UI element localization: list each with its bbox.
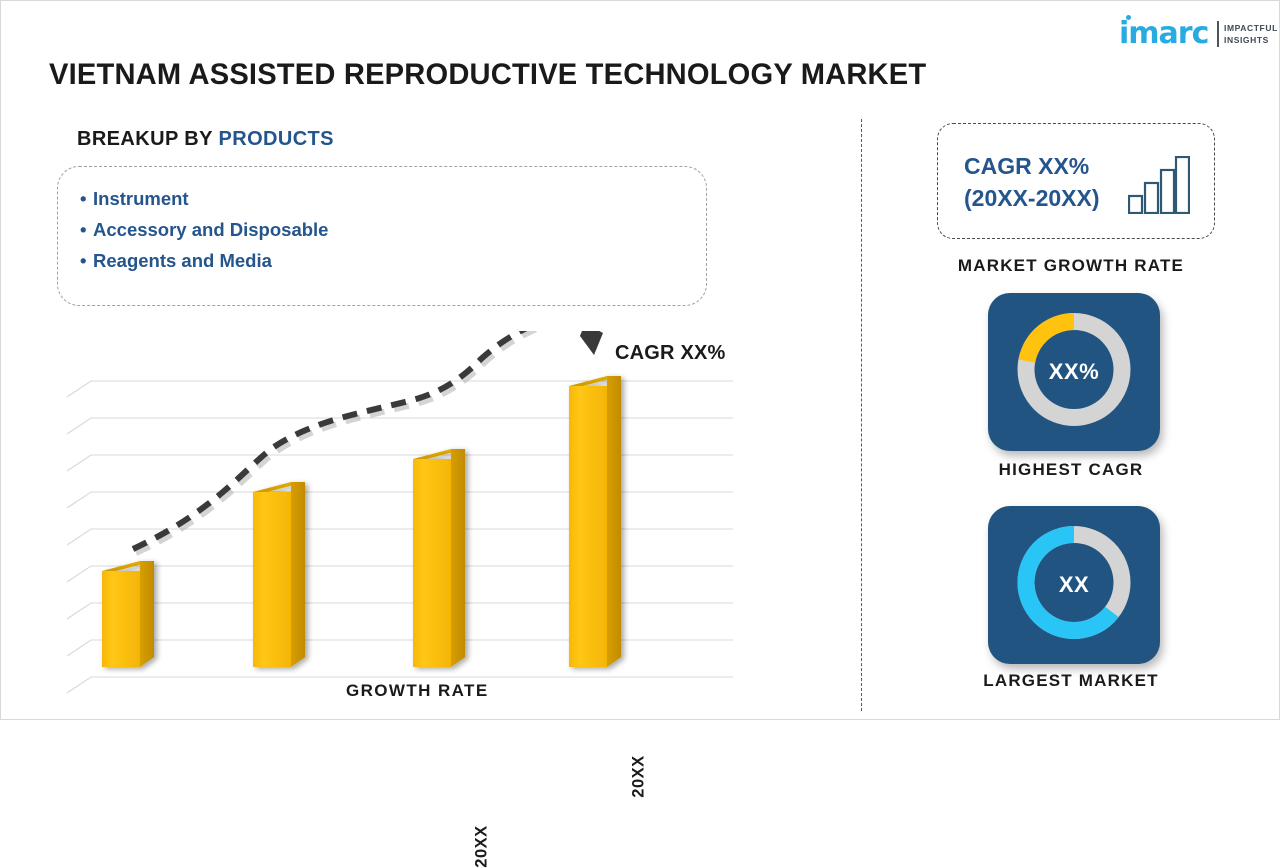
list-item-label: Reagents and Media	[93, 250, 272, 271]
largest-market-value: XX	[988, 506, 1160, 664]
highest-cagr-value: XX%	[988, 293, 1160, 451]
chart-axis-label: GROWTH RATE	[346, 681, 489, 701]
page-title: VIETNAM ASSISTED REPRODUCTIVE TECHNOLOGY…	[49, 58, 926, 92]
list-item: •Reagents and Media	[80, 245, 706, 276]
list-item: •Instrument	[80, 183, 706, 214]
largest-market-caption: LARGEST MARKET	[861, 671, 1280, 691]
cagr-text: CAGR XX% (20XX-20XX)	[964, 150, 1100, 214]
trend-line	[133, 331, 603, 553]
bullet-icon: •	[80, 214, 93, 245]
ascending-bars-icon	[1128, 156, 1190, 219]
cagr-line1: CAGR XX%	[964, 150, 1100, 182]
bar-3-value-label: 20XX	[473, 825, 492, 867]
trend-arrowhead-icon	[580, 331, 603, 355]
list-item-label: Accessory and Disposable	[93, 219, 328, 240]
kpi-panel: CAGR XX% (20XX-20XX) MARKET GROWTH RATE	[861, 1, 1280, 721]
market-growth-rate-box: CAGR XX% (20XX-20XX)	[937, 123, 1215, 239]
infographic-page: imarc IMPACTFUL INSIGHTS VIETNAM ASSISTE…	[0, 0, 1280, 720]
cagr-line2: (20XX-20XX)	[964, 182, 1100, 214]
products-list-box: •Instrument •Accessory and Disposable •R…	[57, 166, 707, 306]
breakup-heading-dimension: PRODUCTS	[218, 128, 333, 150]
largest-market-card: XX	[988, 506, 1160, 664]
market-growth-rate-caption: MARKET GROWTH RATE	[861, 256, 1280, 276]
bar-4-value-label: 20XX	[630, 755, 649, 797]
breakup-heading: BREAKUP BY PRODUCTS	[77, 128, 334, 151]
growth-rate-bar-chart: 20XX 20XX	[61, 331, 761, 711]
chart-cagr-annotation: CAGR XX%	[615, 342, 726, 365]
chart-svg	[61, 331, 761, 711]
bar-3	[413, 449, 465, 667]
list-item: •Accessory and Disposable	[80, 214, 706, 245]
bar-2	[253, 482, 305, 667]
bar-1	[102, 561, 154, 667]
list-item-label: Instrument	[93, 188, 189, 209]
bullet-icon: •	[80, 245, 93, 276]
bullet-icon: •	[80, 183, 93, 214]
breakup-heading-prefix: BREAKUP BY	[77, 128, 218, 150]
highest-cagr-caption: HIGHEST CAGR	[861, 460, 1280, 480]
highest-cagr-card: XX%	[988, 293, 1160, 451]
bar-4	[569, 376, 621, 667]
